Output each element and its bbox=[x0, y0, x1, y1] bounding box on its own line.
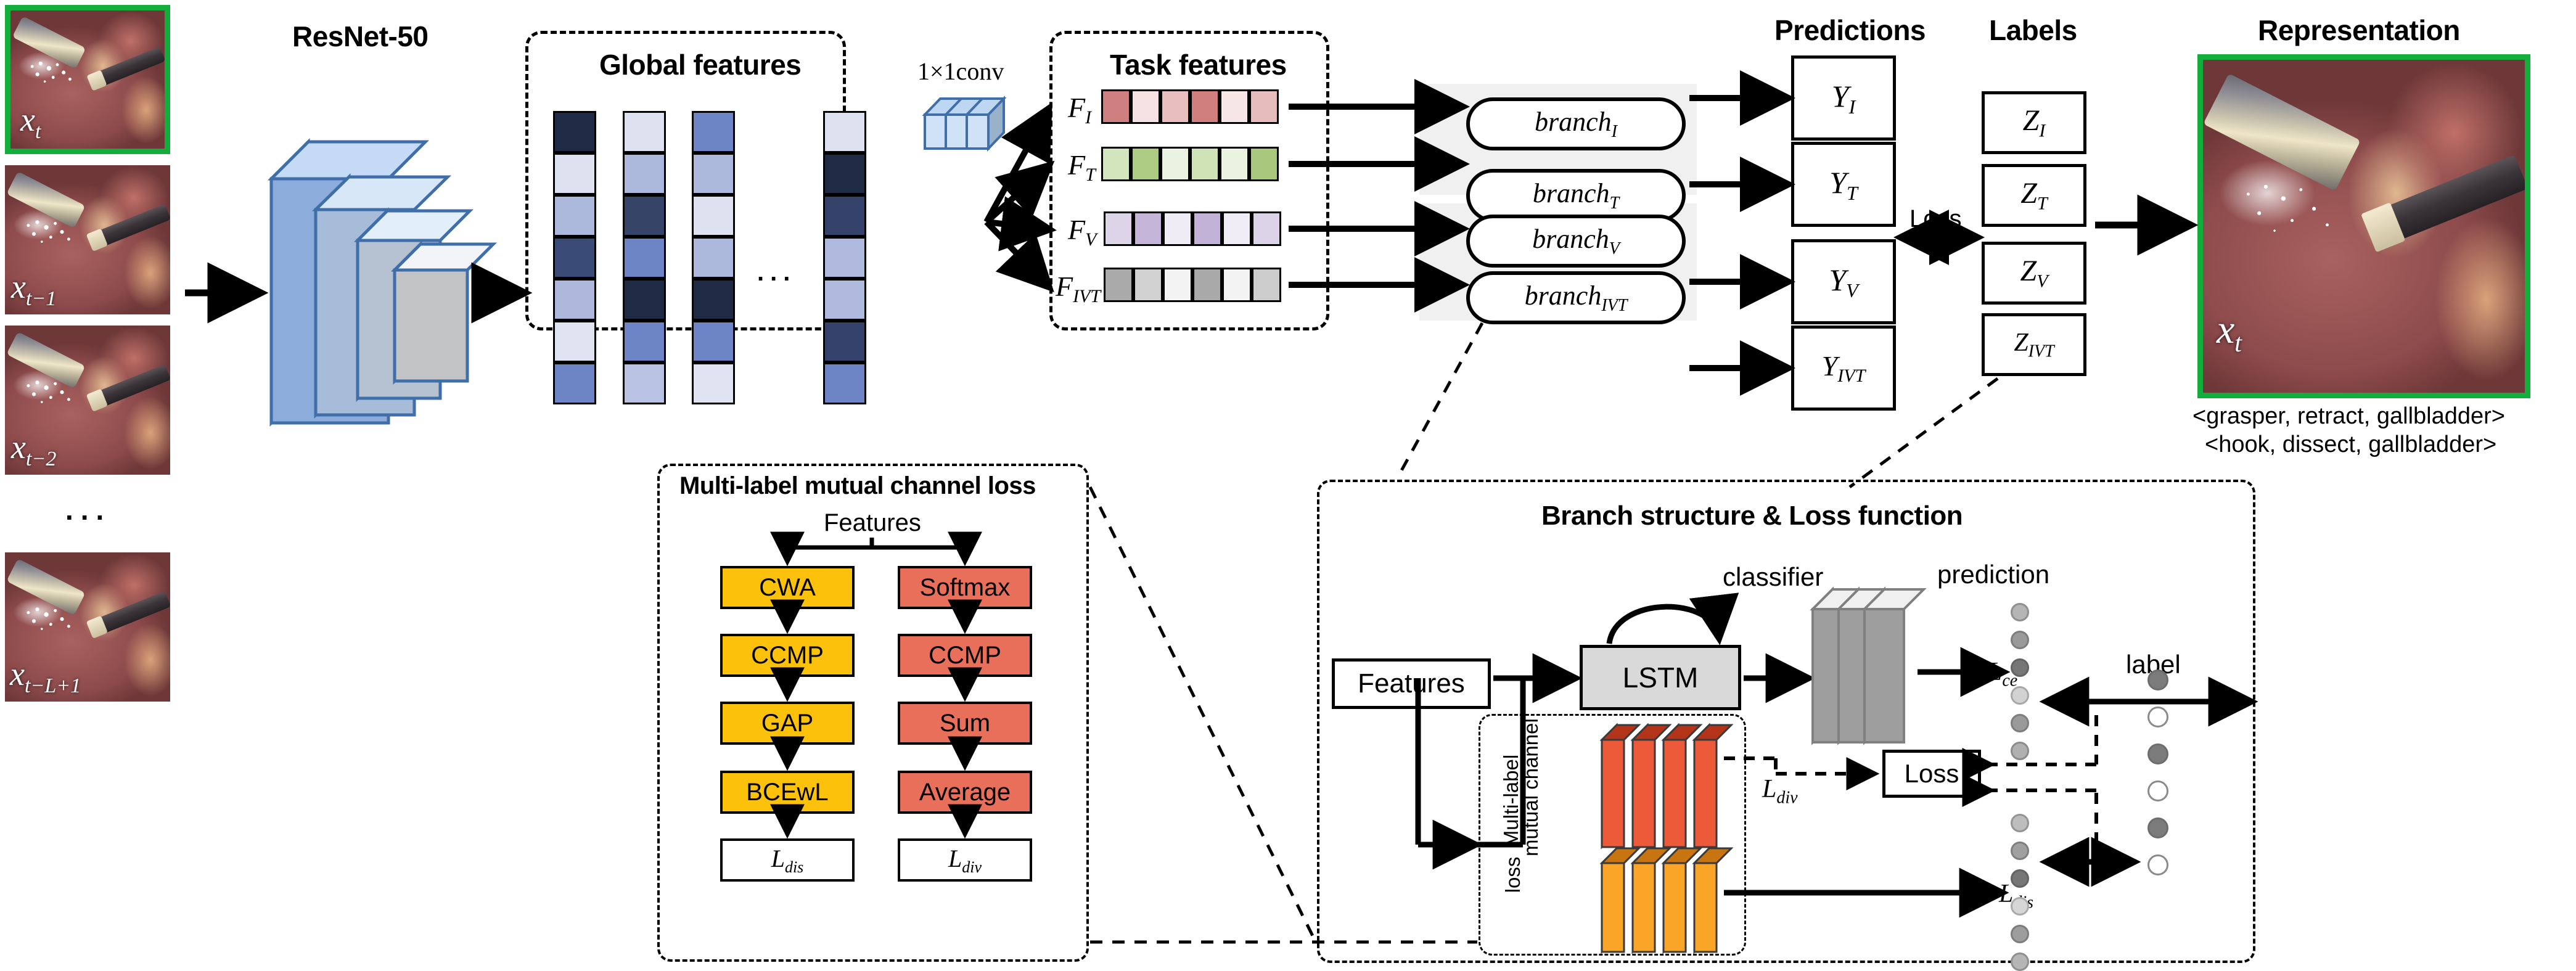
frame-caption: xt bbox=[2217, 306, 2242, 358]
global-feature-column-2 bbox=[692, 111, 735, 404]
mlmc-step-cwa: CWA bbox=[720, 566, 855, 609]
prediction-box-0: YI bbox=[1791, 55, 1896, 141]
prediction-box-1: YT bbox=[1791, 142, 1896, 227]
classifier-label: classifier bbox=[1723, 562, 1823, 592]
label-box-0: ZI bbox=[1982, 91, 2086, 154]
prediction-box-3: YIVT bbox=[1791, 326, 1896, 411]
loss-term-ldiv: Ldiv bbox=[1762, 774, 1798, 808]
frames-ellipsis: ... bbox=[65, 493, 111, 526]
task-feature-label-2: FV bbox=[1068, 213, 1096, 250]
representation-title: Representation bbox=[2258, 14, 2460, 47]
branch-mlmc-inner-label-line3: loss bbox=[1501, 841, 1525, 909]
prediction-dots-bottom bbox=[2011, 814, 2029, 971]
mlmc-step-average: Average bbox=[898, 771, 1032, 814]
input-frame-2[interactable]: xt−2 bbox=[5, 326, 170, 475]
label-box-2: ZV bbox=[1982, 242, 2086, 305]
branch-box-2[interactable]: branchV bbox=[1466, 215, 1686, 268]
mlmc-step-sum: Sum bbox=[898, 702, 1032, 745]
mlmc-input-label: Features bbox=[824, 509, 921, 537]
lstm-box: LSTM bbox=[1580, 645, 1741, 710]
tissue-speckles bbox=[26, 60, 78, 91]
branch-structure-panel bbox=[1317, 480, 2255, 963]
task-feature-strip-2 bbox=[1104, 211, 1281, 246]
prediction-box-2: YV bbox=[1791, 239, 1896, 324]
task-feature-label-1: FT bbox=[1068, 149, 1096, 186]
arrows-branches-to-predictions bbox=[1689, 98, 1787, 368]
input-frame-3[interactable]: xt−L+1 bbox=[5, 552, 170, 702]
mlmc-step-ccmp-left: CCMP bbox=[720, 634, 855, 677]
conv-cube-icon bbox=[925, 99, 1004, 149]
frame-caption: xt−1 bbox=[11, 268, 56, 311]
branch-structure-title: Branch structure & Loss function bbox=[1541, 501, 1963, 531]
global-features-ellipsis: ... bbox=[757, 259, 796, 287]
task-feature-label-3: FIVT bbox=[1056, 270, 1101, 307]
task-features-title: Task features bbox=[1110, 48, 1287, 81]
label-box-3: ZIVT bbox=[1982, 313, 2086, 376]
frame-caption: xt−L+1 bbox=[10, 655, 81, 698]
label-box-1: ZT bbox=[1982, 164, 2086, 227]
resnet-slab-stack bbox=[271, 142, 493, 423]
triplet-line-0: <grasper, retract, gallbladder> bbox=[2192, 403, 2505, 430]
mlmc-output-ldiv: Ldiv bbox=[898, 838, 1032, 882]
mlmc-title: Multi-label mutual channel loss bbox=[679, 472, 1036, 500]
backbone-title: ResNet-50 bbox=[292, 20, 429, 53]
mlmc-step-softmax: Softmax bbox=[898, 566, 1032, 609]
labels-title: Labels bbox=[1989, 14, 2077, 47]
loss-box: Loss bbox=[1882, 750, 1981, 798]
frame-caption: xt−2 bbox=[11, 428, 56, 471]
branch-box-3[interactable]: branchIVT bbox=[1466, 271, 1686, 324]
triplet-line-1: <hook, dissect, gallbladder> bbox=[2205, 432, 2496, 458]
global-features-title: Global features bbox=[599, 48, 801, 81]
mlmc-step-ccmp-right: CCMP bbox=[898, 634, 1032, 677]
label-dots bbox=[2147, 670, 2168, 875]
tissue-speckles bbox=[22, 379, 78, 412]
arrows-conv-fanout bbox=[987, 110, 1048, 286]
mlmc-step-bcewl: BCEwL bbox=[720, 771, 855, 814]
conv-label: 1×1conv bbox=[917, 57, 1004, 86]
branch-features-box: Features bbox=[1332, 658, 1491, 709]
loss-arrow-label: Loss bbox=[1909, 205, 1962, 233]
input-frame-0[interactable]: xt bbox=[5, 5, 170, 154]
frame-caption: xt bbox=[20, 100, 41, 144]
representation-frame[interactable]: xt bbox=[2197, 54, 2530, 398]
task-feature-strip-0 bbox=[1101, 89, 1279, 124]
mlmc-step-gap: GAP bbox=[720, 702, 855, 745]
global-feature-column-0 bbox=[553, 111, 596, 404]
tissue-speckles bbox=[22, 606, 78, 639]
task-feature-strip-1 bbox=[1101, 147, 1279, 181]
task-feature-label-0: FI bbox=[1068, 91, 1091, 128]
task-feature-strip-3 bbox=[1104, 268, 1281, 302]
prediction-label: prediction bbox=[1937, 560, 2049, 589]
mlmc-output-ldis: Ldis bbox=[720, 838, 855, 882]
tissue-speckles bbox=[2235, 179, 2344, 253]
tissue-speckles bbox=[22, 219, 78, 252]
global-feature-column-1 bbox=[623, 111, 666, 404]
global-feature-column-3 bbox=[823, 111, 866, 404]
branch-box-0[interactable]: branchI bbox=[1466, 97, 1686, 150]
prediction-dots-top bbox=[2011, 603, 2029, 760]
branch-mlmc-inner-label-line2: mutual channel bbox=[1519, 745, 1543, 856]
input-frame-1[interactable]: xt−1 bbox=[5, 165, 170, 314]
predictions-title: Predictions bbox=[1774, 14, 1926, 47]
